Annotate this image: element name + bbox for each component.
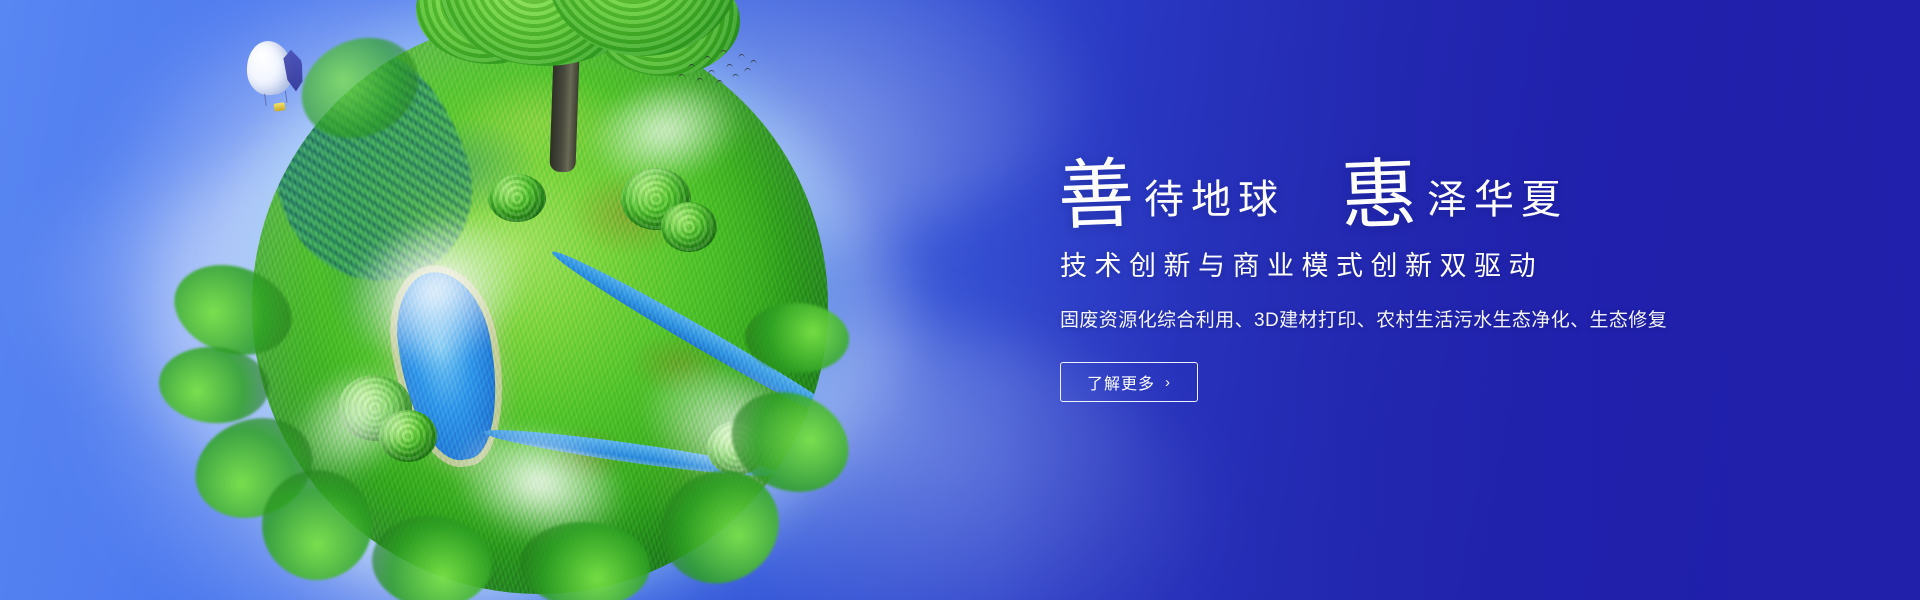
hero-banner: 善 待地球 惠 泽华夏 技术创新与商业模式创新双驱动 固废资源化综合利用、3D建… xyxy=(0,0,1920,600)
learn-more-label: 了解更多 xyxy=(1087,370,1155,394)
banner-description: 固废资源化综合利用、3D建材打印、农村生活污水生态净化、生态修复 xyxy=(1060,305,1758,332)
banner-content: 善 待地球 惠 泽华夏 技术创新与商业模式创新双驱动 固废资源化综合利用、3D建… xyxy=(1058,130,1758,402)
headline: 善 待地球 惠 泽华夏 xyxy=(1058,130,1758,226)
headline-rest-2: 泽华夏 xyxy=(1427,180,1568,226)
headline-rest-1: 待地球 xyxy=(1144,180,1285,226)
headline-lead-char-1: 善 xyxy=(1057,161,1135,234)
headline-phrase-1: 善 待地球 xyxy=(1058,156,1285,226)
headline-lead-char-2: 惠 xyxy=(1340,161,1418,234)
chevron-right-icon: › xyxy=(1165,375,1171,390)
learn-more-button[interactable]: 了解更多 › xyxy=(1060,362,1198,402)
banner-subtitle: 技术创新与商业模式创新双驱动 xyxy=(1060,244,1758,283)
headline-phrase-2: 惠 泽华夏 xyxy=(1341,156,1568,226)
